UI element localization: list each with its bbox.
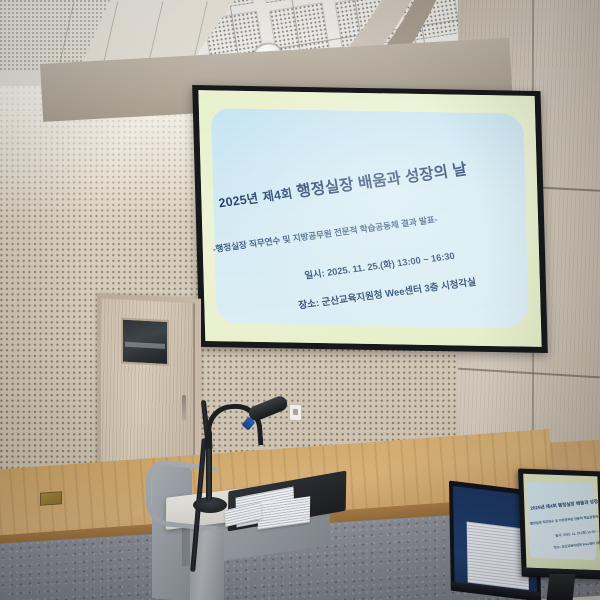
slide-title-main: 행정실장 배움과 성장의 날 xyxy=(295,162,468,202)
slide-subtitle: -행정실장 직무연수 및 지방공무원 전문적 학습공동체 결과 발표- xyxy=(212,213,439,255)
door-vision-panel xyxy=(121,318,169,367)
slide-place: 장소: 군산교육지원청 Wee센터 3층 시청각실 xyxy=(297,274,477,312)
projection-screen: 2025년 제4회 행정실장 배움과 성장의 날 -행정실장 직무연수 및 지방… xyxy=(192,85,548,353)
door-handle[interactable] xyxy=(182,395,186,421)
control-monitor-right-screen: 2025년 제4회 행정실장 배움과 성장의 날 -행정실장 직무연수 및 지방… xyxy=(523,474,600,571)
slide-title-edition: 제4회 xyxy=(261,187,293,205)
door-window-reflection xyxy=(125,342,165,349)
monitor-stand xyxy=(547,574,576,600)
slide-title: 2025년 제4회 행정실장 배움과 성장의 날 xyxy=(216,158,468,213)
control-monitor-right[interactable]: 2025년 제4회 행정실장 배움과 성장의 날 -행정실장 직무연수 및 지방… xyxy=(518,469,600,580)
auditorium-photo: 2025년 제4회 행정실장 배움과 성장의 날 -행정실장 직무연수 및 지방… xyxy=(0,0,600,600)
wood-panel-seam xyxy=(458,368,600,379)
slide-text-block: 2025년 제4회 행정실장 배움과 성장의 날 -행정실장 직무연수 및 지방… xyxy=(198,90,541,347)
projection-surface: 2025년 제4회 행정실장 배움과 성장의 날 -행정실장 직무연수 및 지방… xyxy=(198,90,541,347)
slide-title-year: 2025년 xyxy=(217,192,259,211)
floor-service-box xyxy=(40,491,62,506)
slide-datetime: 일시: 2025. 11. 25.(화) 13:00 ~ 16:30 xyxy=(303,247,455,281)
wall-outlet xyxy=(289,404,302,422)
